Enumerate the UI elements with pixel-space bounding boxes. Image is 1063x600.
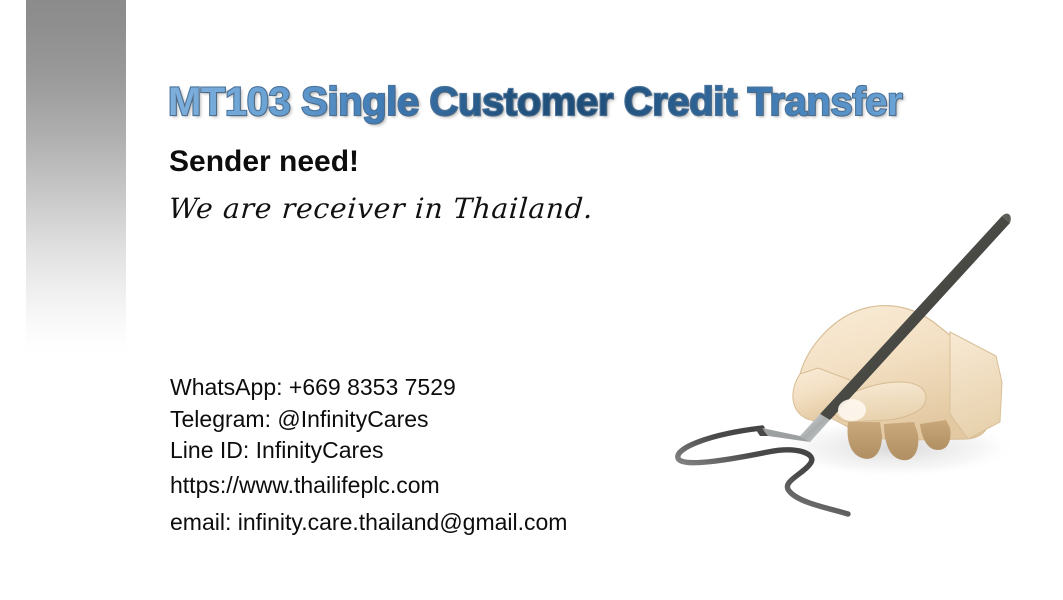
- hand-writing-with-pen-illustration: [650, 196, 1050, 536]
- sub-heading: Sender need!: [169, 145, 359, 179]
- hand-wrist: [950, 332, 1002, 439]
- contact-line-whatsapp: WhatsApp: +669 8353 7529: [170, 372, 690, 404]
- script-statement: We are receiver in Thailand.: [168, 192, 595, 225]
- page-title: MT103 Single Customer Credit Transfer: [168, 76, 1008, 128]
- contact-line-telegram: Telegram: @InfinityCares: [170, 404, 690, 436]
- left-gradient-bar: [26, 0, 126, 352]
- slide-canvas: MT103 Single Customer Credit Transfer MT…: [0, 0, 1063, 600]
- contact-block: WhatsApp: +669 8353 7529 Telegram: @Infi…: [170, 372, 690, 541]
- knuckle-highlight: [838, 399, 866, 421]
- contact-line-email[interactable]: email: infinity.care.thailand@gmail.com: [170, 504, 690, 541]
- contact-line-website[interactable]: https://www.thailifeplc.com: [170, 467, 690, 504]
- contact-line-lineid: Line ID: InfinityCares: [170, 435, 690, 467]
